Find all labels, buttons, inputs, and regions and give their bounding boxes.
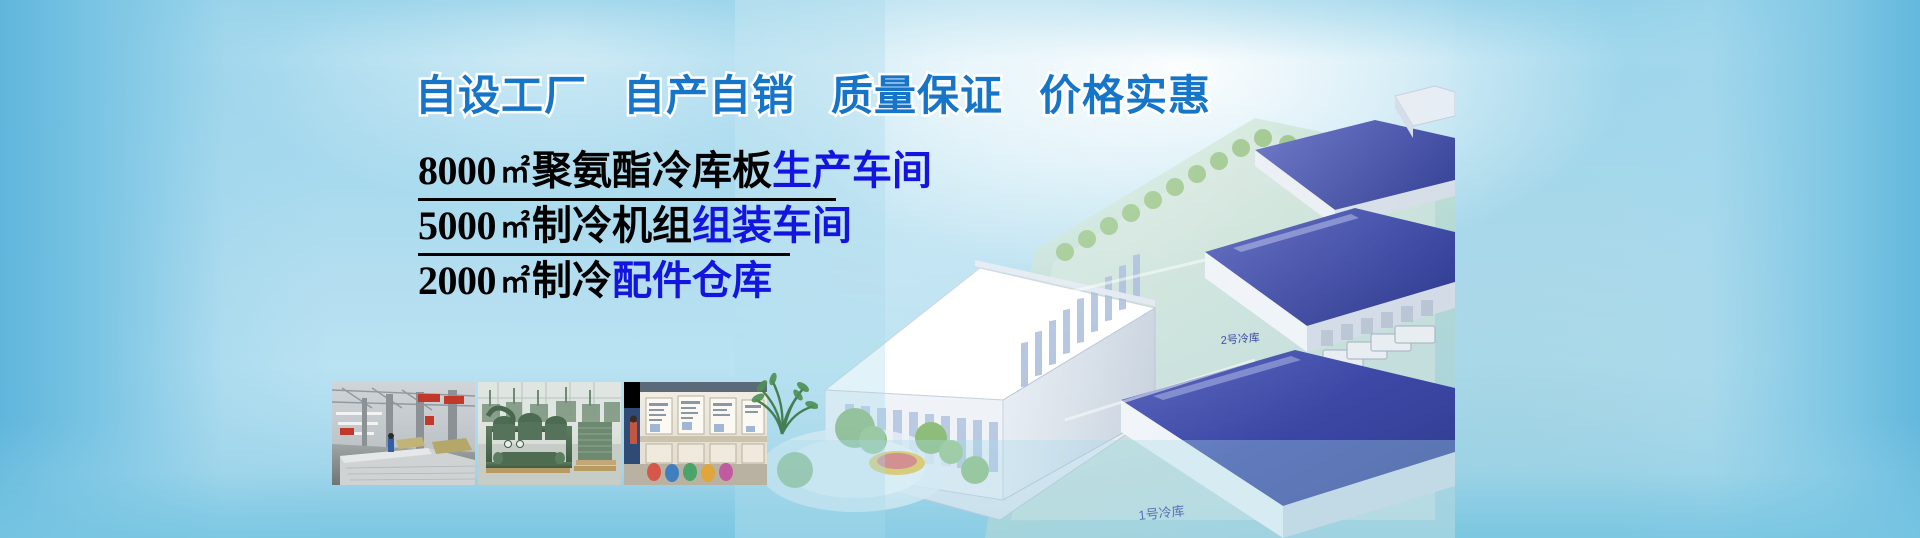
facility-line-1: 8000㎡聚氨酯冷库板生产车间 [418,146,1058,197]
facility-line-3: 2000㎡制冷配件仓库 [418,256,1058,307]
facility-black-2: 制冷机组 [532,203,692,248]
photo-panel-production-workshop [332,382,475,485]
facility-unit-1: ㎡ [496,156,532,189]
facility-area-2: 5000 [418,203,496,248]
facility-unit-3: ㎡ [496,266,532,299]
facility-list: 8000㎡聚氨酯冷库板生产车间 5000㎡制冷机组组装车间 2000㎡制冷配件仓… [418,146,1058,307]
potted-plant [748,366,818,436]
headline: 自设工厂 自产自销 质量保证 价格实惠 [415,74,1211,118]
headline-phrase-3: 质量保证 [831,74,1003,118]
facility-blue-1: 生产车间 [772,148,932,193]
facility-blue-3: 配件仓库 [612,258,772,303]
compressor-unit [486,408,572,468]
visitor-figure [630,416,637,445]
photo-parts-showroom-display [624,382,767,485]
facility-black-1: 聚氨酯冷库板 [532,148,772,193]
facility-unit-2: ㎡ [496,211,532,244]
headline-phrase-1: 自设工厂 [415,74,587,118]
left-edge-vignette [0,0,330,538]
condenser-block [576,422,616,465]
worker-figure [388,433,394,452]
headline-phrase-2: 自产自销 [623,74,795,118]
photo-strip [332,382,767,485]
facility-black-3: 制冷 [532,258,612,303]
facility-area-3: 2000 [418,258,496,303]
facility-blue-2: 组装车间 [692,203,852,248]
right-edge-vignette [1620,0,1920,538]
photo-compressor-units-assembly [478,382,621,485]
factory-promo-banner: 2号冷库 [0,0,1920,538]
headline-phrase-4: 价格实惠 [1039,74,1211,118]
facility-line-2: 5000㎡制冷机组组装车间 [418,201,1058,252]
facility-area-1: 8000 [418,148,496,193]
